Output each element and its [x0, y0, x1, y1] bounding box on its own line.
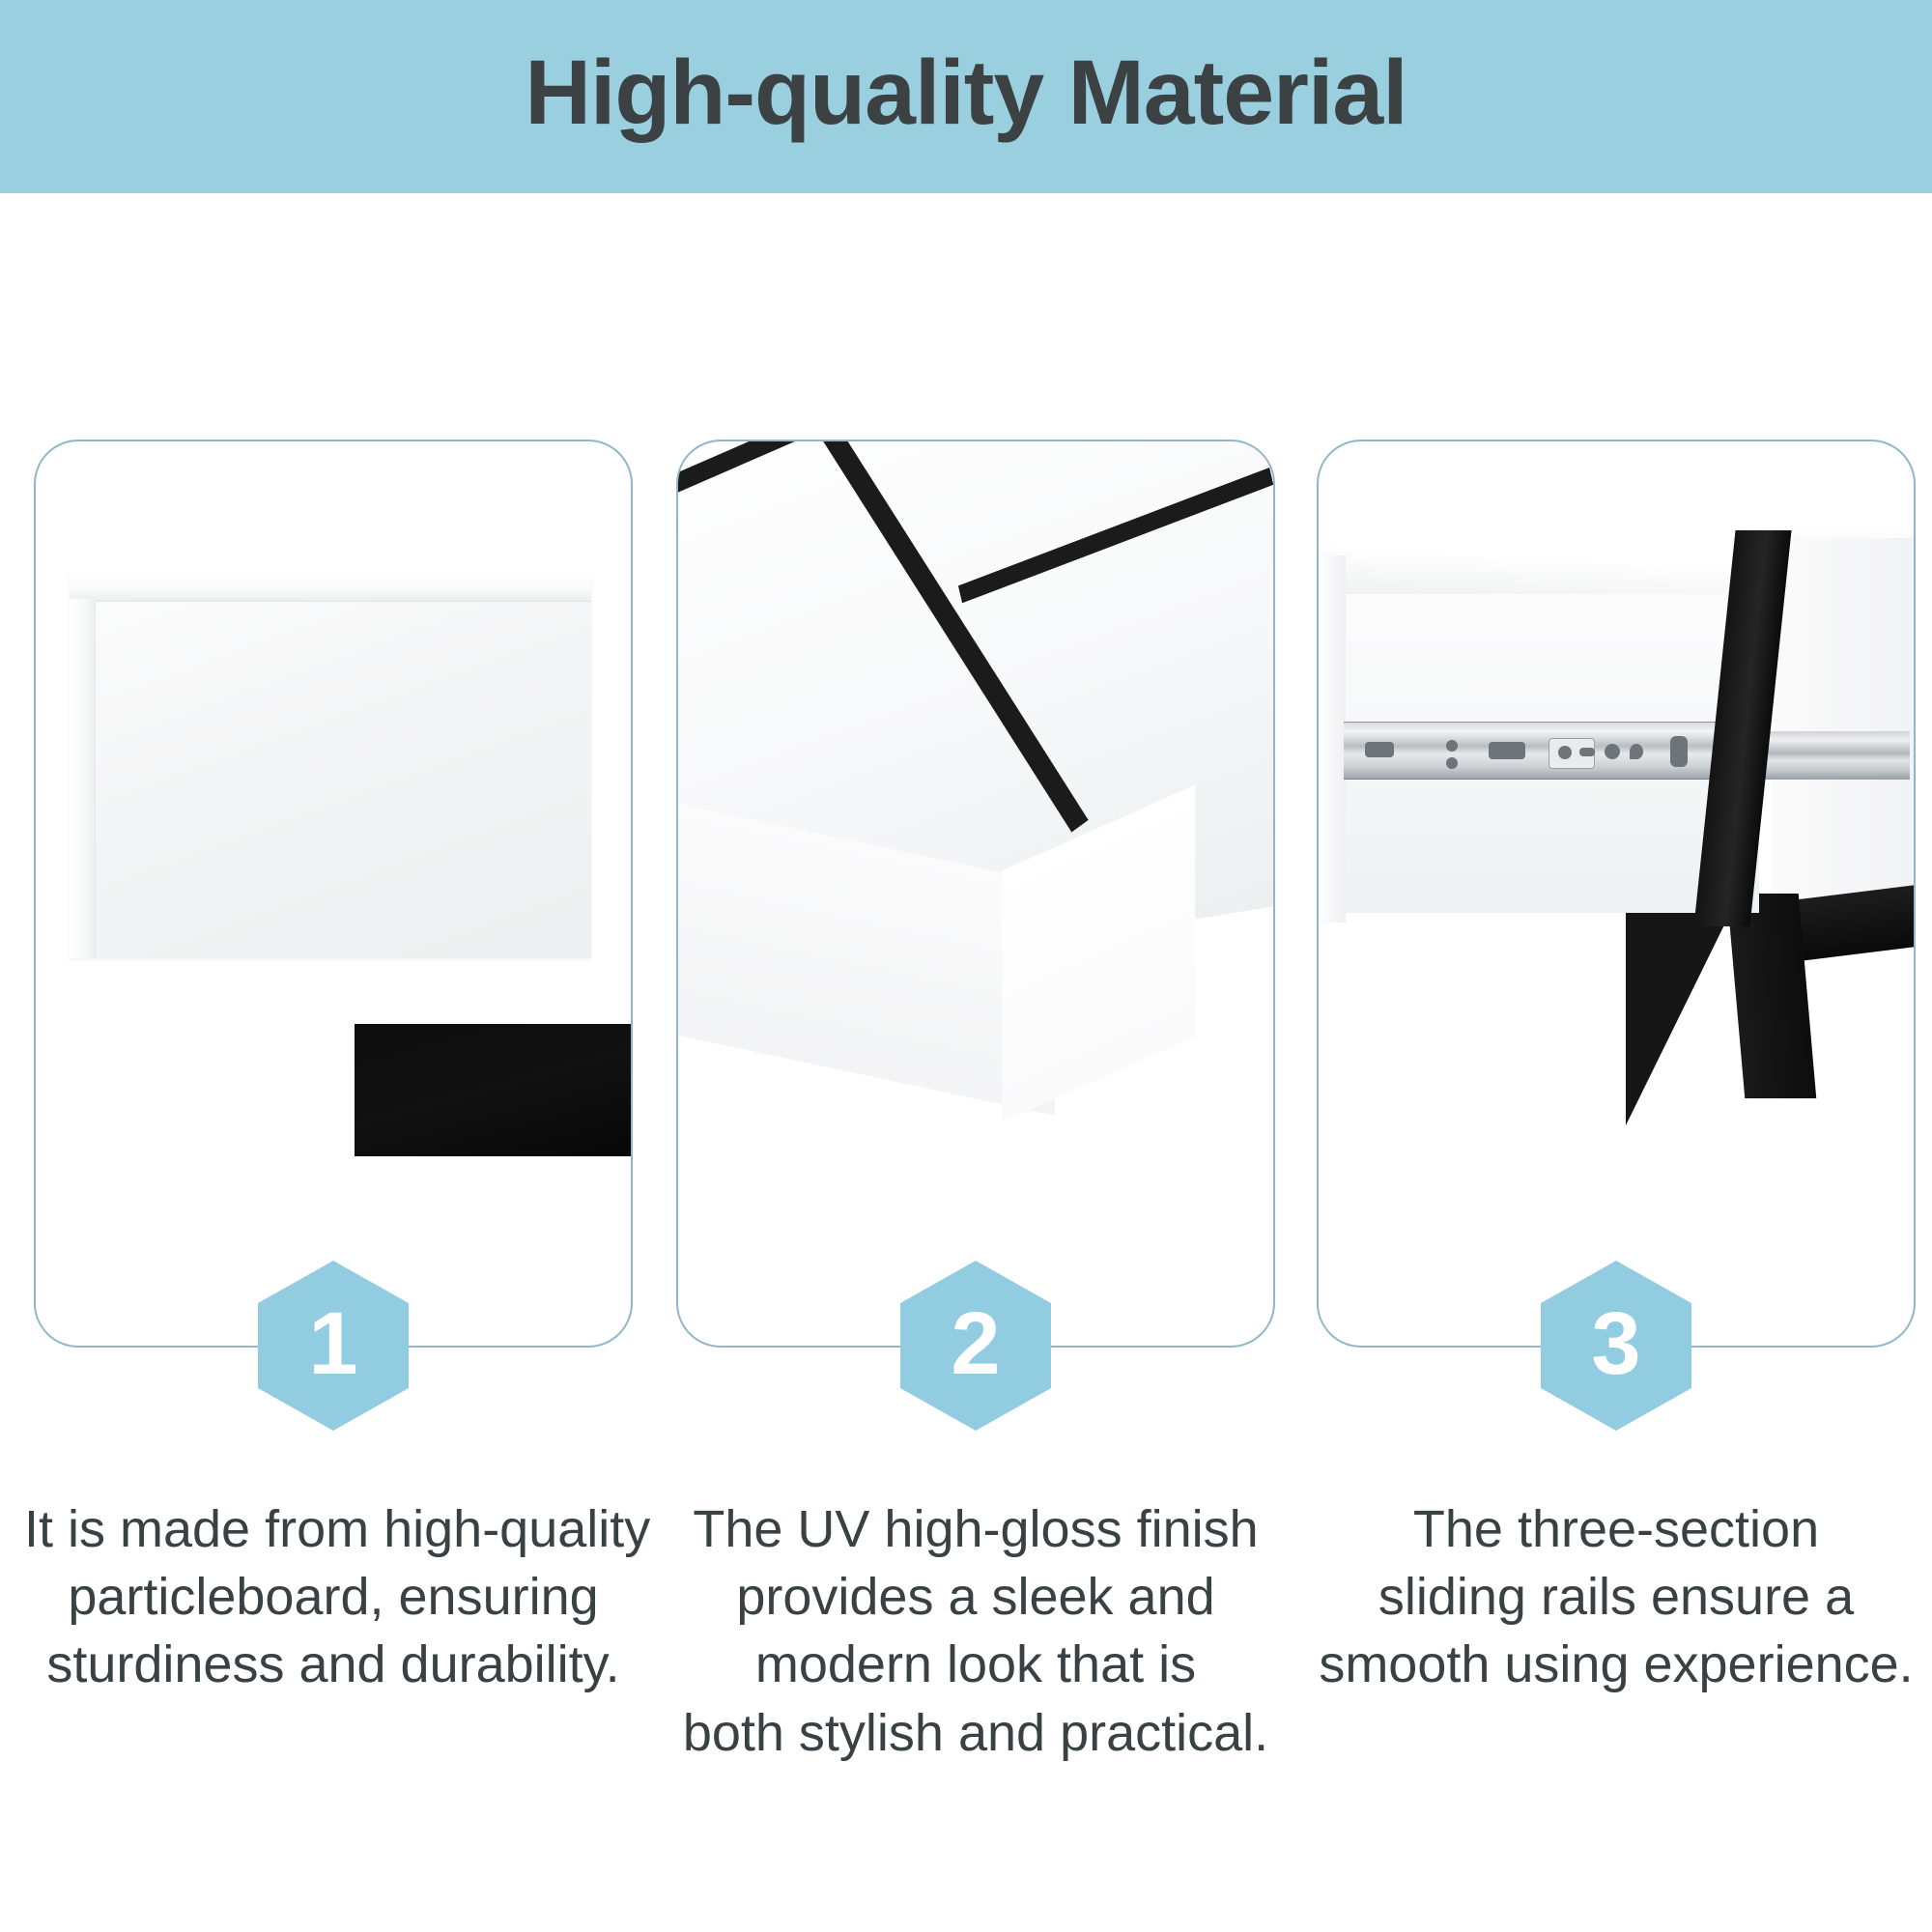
panel-top-edge	[70, 572, 591, 602]
sliding-rail-inner	[1344, 722, 1730, 780]
particleboard-panel-photo	[36, 441, 631, 1346]
rail-hole	[1579, 748, 1595, 756]
step-badge-label: 1	[308, 1299, 357, 1388]
white-panel-shape	[70, 572, 591, 958]
sliding-rails-drawer-photo	[1319, 441, 1914, 1346]
page-title: High-quality Material	[525, 47, 1406, 139]
step-badge-label: 3	[1591, 1299, 1640, 1388]
caption-line: both stylish and practical.	[667, 1699, 1285, 1767]
caption-line: particleboard, ensuring	[24, 1563, 642, 1631]
caption-line: smooth using experience.	[1307, 1631, 1925, 1698]
uv-gloss-finish-photo	[678, 441, 1273, 1346]
rail-hole	[1489, 742, 1525, 759]
rail-hole	[1630, 744, 1643, 759]
feature-card-2	[676, 440, 1275, 1348]
caption-line: provides a sleek and	[667, 1563, 1285, 1631]
step-badge-label: 2	[951, 1299, 1000, 1388]
feature-card-1	[34, 440, 633, 1348]
rail-hole	[1605, 744, 1620, 759]
feature-caption-1: It is made from high-quality particleboa…	[24, 1495, 642, 1699]
caption-line: sliding rails ensure a	[1307, 1563, 1925, 1631]
rail-hole	[1446, 740, 1458, 752]
caption-line: sturdiness and durability.	[24, 1631, 642, 1698]
drawer-left-panel	[1319, 555, 1346, 923]
header-band: High-quality Material	[0, 0, 1932, 193]
rail-hole	[1558, 746, 1572, 759]
caption-line: modern look that is	[667, 1631, 1285, 1698]
feature-caption-3: The three-section sliding rails ensure a…	[1307, 1495, 1925, 1699]
drawer-right-panel	[1771, 538, 1914, 905]
rail-hole	[1446, 757, 1458, 769]
black-board-shape	[355, 1024, 631, 1156]
feature-card-3	[1317, 440, 1916, 1348]
black-groove-line-d	[958, 468, 1273, 603]
caption-line: The three-section	[1307, 1495, 1925, 1563]
panel-left-edge	[70, 599, 96, 958]
black-leg-left	[1626, 894, 1740, 1125]
black-groove-line-b	[801, 441, 1088, 833]
caption-line: The UV high-gloss finish	[667, 1495, 1285, 1563]
feature-caption-2: The UV high-gloss finish provides a slee…	[667, 1495, 1285, 1767]
black-groove-line-a	[678, 441, 1273, 550]
rail-hole	[1365, 742, 1394, 757]
caption-line: It is made from high-quality	[24, 1495, 642, 1563]
rail-hole	[1670, 736, 1688, 767]
